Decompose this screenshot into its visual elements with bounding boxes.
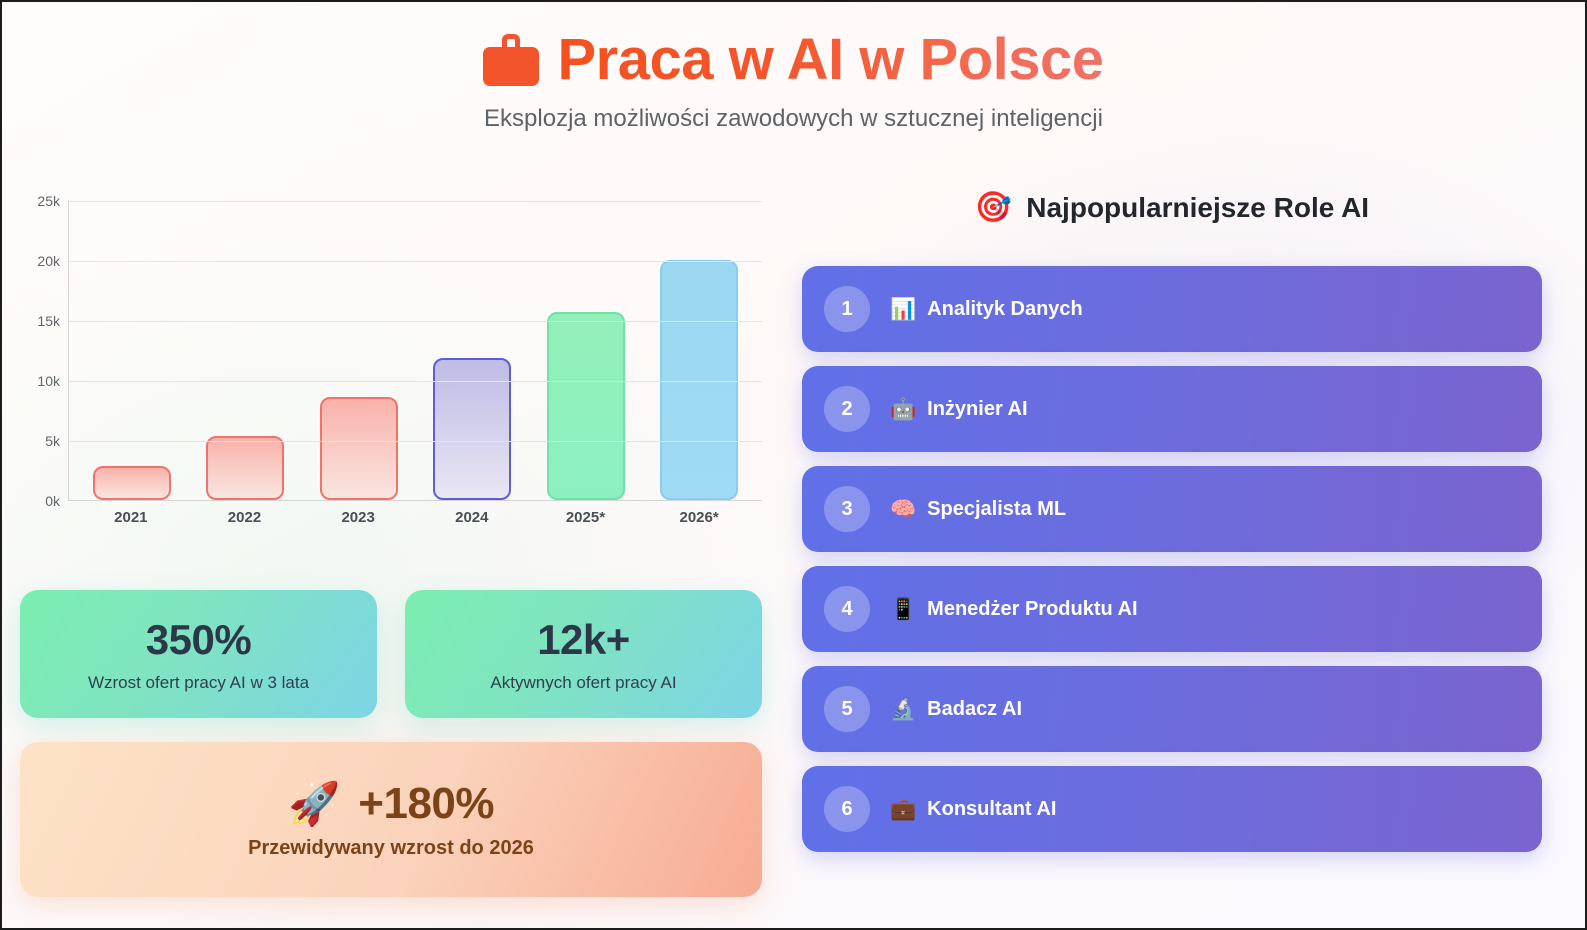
plot-area [68,201,762,501]
infographic-page: Praca w AI w Polsce Eksplozja możliwości… [2,2,1585,928]
role-label: Inżynier AI [927,398,1027,421]
bar-2023 [320,397,398,500]
stat-value: 350% [146,616,251,664]
stat-label: Wzrost ofert pracy AI w 3 lata [88,673,309,693]
role-rank-badge: 6 [824,786,870,832]
brain-icon: 🧠 [890,499,916,520]
role-rank-badge: 5 [824,686,870,732]
stat-card: 12k+Aktywnych ofert pracy AI [405,590,762,718]
y-axis-tick: 5k [45,433,60,449]
gridline [69,381,762,382]
role-main: 🔬Badacz AI [890,698,1022,721]
roles-list: 1📊Analityk Danych2🤖Inżynier AI3🧠Specjali… [802,266,1542,852]
bar-column [429,201,515,500]
title-row: Praca w AI w Polsce [2,30,1585,91]
jobs-growth-bar-chart: 0k5k10k15k20k25k 20212022202320242025*20… [20,187,762,537]
x-axis: 20212022202320242025*2026* [68,509,762,526]
bar-column [316,201,402,500]
forecast-highlight-card: 🚀 +180% Przewidywany wzrost do 2026 [20,742,762,897]
role-rank-badge: 2 [824,386,870,432]
stat-label: Aktywnych ofert pracy AI [490,673,676,693]
dart-target-icon: 🎯 [975,193,1012,223]
x-axis-tick: 2022 [201,509,287,526]
bar-2026 [660,260,738,500]
bar-chart-icon: 📊 [890,299,916,320]
role-item-4[interactable]: 4📱Menedżer Produktu AI [802,566,1542,652]
x-axis-tick: 2025* [542,509,628,526]
gridline [69,201,762,202]
briefcase-icon: 💼 [890,799,916,820]
y-axis-tick: 15k [37,313,60,329]
y-axis-tick: 25k [37,193,60,209]
role-main: 💼Konsultant AI [890,798,1056,821]
bar-2025 [547,312,625,500]
y-axis-tick: 10k [37,373,60,389]
page-subtitle: Eksplozja możliwości zawodowych w sztucz… [2,105,1585,133]
forecast-value: +180% [358,779,494,829]
y-axis-tick: 20k [37,253,60,269]
role-item-3[interactable]: 3🧠Specjalista ML [802,466,1542,552]
forecast-label: Przewidywany wzrost do 2026 [248,837,534,860]
role-main: 🤖Inżynier AI [890,398,1028,421]
role-label: Specjalista ML [927,498,1066,521]
role-rank-badge: 3 [824,486,870,532]
robot-icon: 🤖 [890,399,916,420]
briefcase-icon [483,34,539,86]
y-axis: 0k5k10k15k20k25k [20,187,66,502]
bar-column [202,201,288,500]
gridline [69,261,762,262]
bar-2024 [433,358,511,500]
x-axis-tick: 2026* [656,509,742,526]
microscope-icon: 🔬 [890,699,916,720]
role-main: 🧠Specjalista ML [890,498,1066,521]
header: Praca w AI w Polsce Eksplozja możliwości… [2,30,1585,133]
bar-2022 [206,436,284,500]
x-axis-tick: 2024 [429,509,515,526]
role-label: Analityk Danych [927,298,1083,321]
role-main: 📱Menedżer Produktu AI [890,598,1138,621]
x-axis-tick: 2021 [88,509,174,526]
x-axis-tick: 2023 [315,509,401,526]
role-item-5[interactable]: 5🔬Badacz AI [802,666,1542,752]
role-main: 📊Analityk Danych [890,298,1083,321]
stat-card: 350%Wzrost ofert pracy AI w 3 lata [20,590,377,718]
stat-card-row: 350%Wzrost ofert pracy AI w 3 lata12k+Ak… [20,590,762,718]
gridline [69,321,762,322]
role-item-2[interactable]: 2🤖Inżynier AI [802,366,1542,452]
role-label: Badacz AI [927,698,1022,721]
gridline [69,441,762,442]
bar-column [656,201,742,500]
y-axis-tick: 0k [45,493,60,509]
roles-header: 🎯 Najpopularniejsze Role AI [802,192,1542,224]
forecast-value-row: 🚀 +180% [288,779,494,829]
bar-series [69,201,762,500]
stat-value: 12k+ [537,616,630,664]
role-label: Konsultant AI [927,798,1056,821]
role-label: Menedżer Produktu AI [927,598,1137,621]
role-item-6[interactable]: 6💼Konsultant AI [802,766,1542,852]
role-item-1[interactable]: 1📊Analityk Danych [802,266,1542,352]
rocket-icon: 🚀 [288,783,340,825]
role-rank-badge: 4 [824,586,870,632]
bar-2021 [93,466,171,500]
bar-column [89,201,175,500]
roles-title: Najpopularniejsze Role AI [1026,192,1369,224]
bar-column [543,201,629,500]
page-title: Praca w AI w Polsce [557,30,1103,91]
roles-panel: 🎯 Najpopularniejsze Role AI 1📊Analityk D… [802,192,1542,866]
mobile-phone-icon: 📱 [890,599,916,620]
role-rank-badge: 1 [824,286,870,332]
